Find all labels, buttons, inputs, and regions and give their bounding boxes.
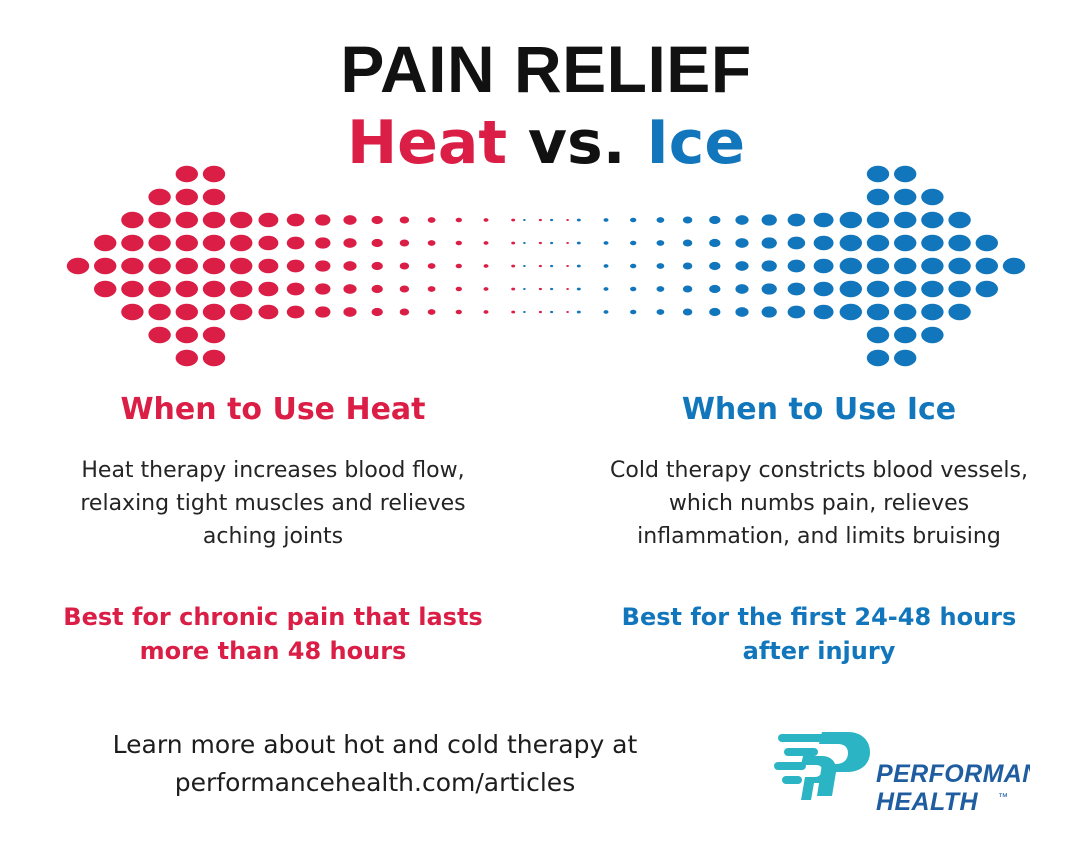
comparison-columns: When to Use Heat Heat therapy increases … <box>0 392 1092 553</box>
heat-arrow-icon <box>67 160 569 372</box>
logo-name-line1: PERFORMANCE <box>876 760 1030 788</box>
title-block: PAIN RELIEF Heat vs. Ice <box>0 34 1092 176</box>
ice-column: When to Use Ice Cold therapy constricts … <box>546 392 1092 553</box>
logo-name-line2: HEALTH <box>876 788 978 816</box>
heat-best-for-text: Best for chronic pain that lasts more th… <box>0 600 546 668</box>
performance-health-logo[interactable]: PERFORMANCE HEALTH ™ <box>770 722 1030 818</box>
ice-best-for-text: Best for the first 24-48 hours after inj… <box>546 600 1092 668</box>
heat-column-heading: When to Use Heat <box>40 392 506 428</box>
ice-column-body: Cold therapy constricts blood vessels, w… <box>586 454 1052 553</box>
infographic-page: PAIN RELIEF Heat vs. Ice When to Use Hea… <box>0 0 1092 850</box>
heat-column-body: Heat therapy increases blood flow, relax… <box>40 454 506 553</box>
footer-learn-more-text: Learn more about hot and cold therapy at… <box>40 726 710 802</box>
heat-column: When to Use Heat Heat therapy increases … <box>0 392 546 553</box>
ice-column-heading: When to Use Ice <box>586 392 1052 428</box>
dot-arrow-graphic <box>0 160 1092 372</box>
page-title: PAIN RELIEF <box>0 34 1092 104</box>
performance-health-p-mark-icon <box>774 732 870 800</box>
footer: Learn more about hot and cold therapy at… <box>0 718 1092 828</box>
logo-trademark: ™ <box>998 792 1008 803</box>
ice-arrow-icon <box>523 160 1025 372</box>
